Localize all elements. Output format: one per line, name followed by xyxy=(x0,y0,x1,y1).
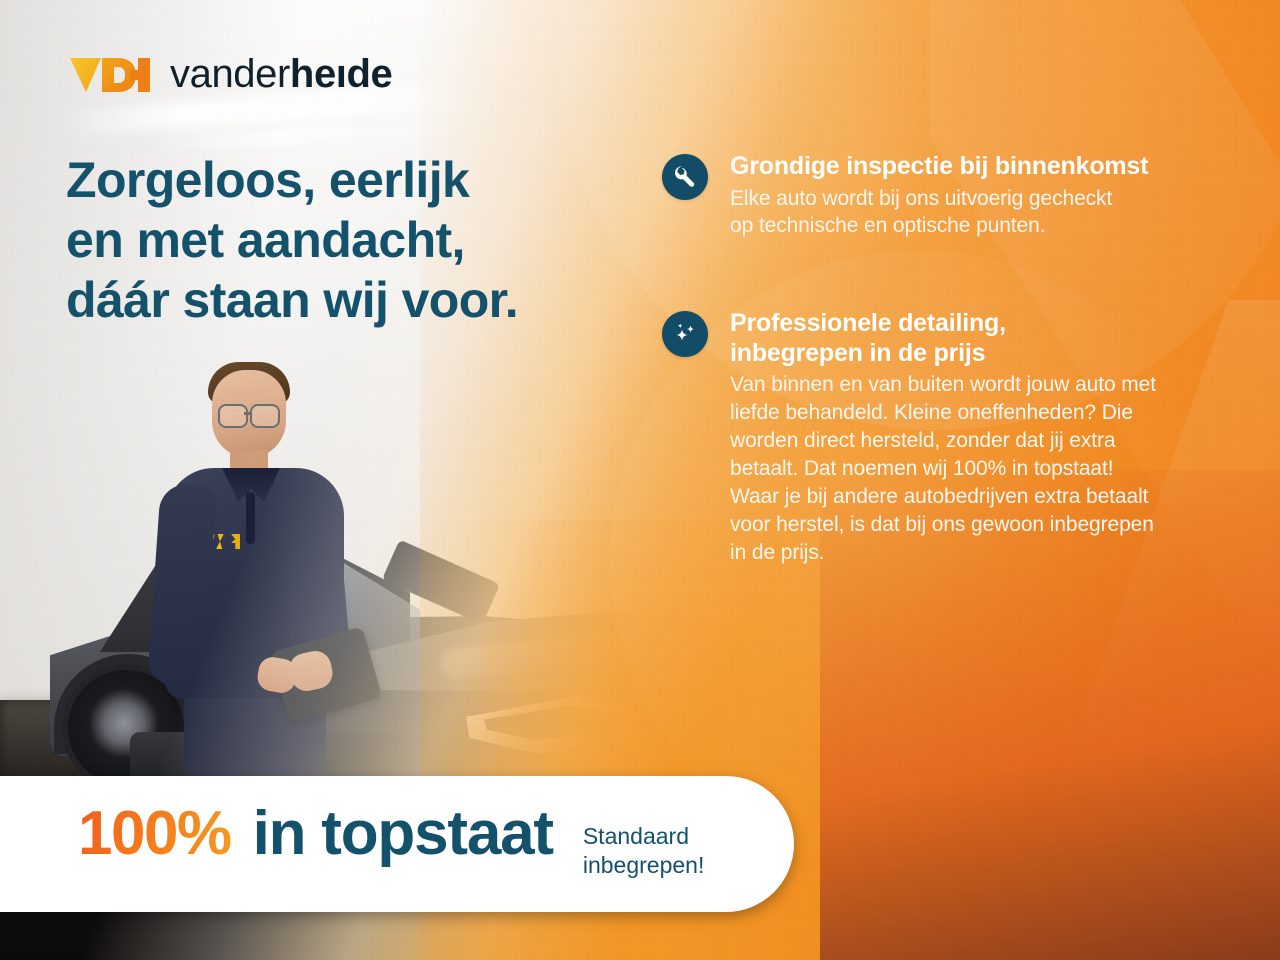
topstaat-banner: 100% in topstaat Standaard inbegrepen! xyxy=(0,776,794,912)
feature-list: Grondige inspectie bij binnenkomst Elke … xyxy=(662,152,1222,567)
feature-body: Elke auto wordt bij ons uitvoerig gechec… xyxy=(730,185,1222,241)
feature-detailing: Professionele detailing, inbegrepen in d… xyxy=(662,309,1222,566)
feature-title: Grondige inspectie bij binnenkomst xyxy=(730,152,1222,182)
percent-value: 100% xyxy=(78,798,231,869)
brand-word-thin: vander xyxy=(170,52,290,96)
feature-body-line: liefde behandeld. Kleine oneffenheden? D… xyxy=(730,399,1222,427)
banner-sub-line-2: inbegrepen! xyxy=(583,851,705,880)
headline-line-3: dáár staan wij voor. xyxy=(66,270,666,330)
page-title: Zorgeloos, eerlijk en met aandacht, dáár… xyxy=(66,150,666,330)
feature-body-line: betaalt. Dat noemen wij 100% in topstaat… xyxy=(730,455,1222,483)
feature-body-line: Elke auto wordt bij ons uitvoerig gechec… xyxy=(730,185,1222,213)
brand-logo[interactable]: vanderheıde xyxy=(68,52,392,97)
topstaat-banner-content: 100% in topstaat Standaard inbegrepen! xyxy=(0,798,704,891)
feature-body-line: op technische en optische punten. xyxy=(730,212,1222,240)
vdh-promo-banner: vanderheıde Zorgeloos, eerlijk en met aa… xyxy=(0,0,1280,960)
banner-main-text: in topstaat xyxy=(253,798,553,869)
headline-line-2: en met aandacht, xyxy=(66,210,666,270)
feature-inspection: Grondige inspectie bij binnenkomst Elke … xyxy=(662,152,1222,240)
wrench-icon xyxy=(662,154,708,200)
banner-sub-text: Standaard inbegrepen! xyxy=(583,822,705,881)
feature-title-line-2: inbegrepen in de prijs xyxy=(730,339,1222,369)
feature-title-line-1: Professionele detailing, xyxy=(730,309,1222,339)
sparkle-icon xyxy=(662,311,708,357)
banner-sub-line-1: Standaard xyxy=(583,822,705,851)
headline-line-1: Zorgeloos, eerlijk xyxy=(66,150,666,210)
feature-body-line: Van binnen en van buiten wordt jouw auto… xyxy=(730,371,1222,399)
feature-body-line: voor herstel, is dat bij ons gewoon inbe… xyxy=(730,511,1222,539)
feature-body-line: Waar je bij andere autobedrijven extra b… xyxy=(730,483,1222,511)
brand-word-bold: heıde xyxy=(290,52,392,96)
vdh-logo-icon xyxy=(68,54,152,96)
brand-wordmark: vanderheıde xyxy=(170,52,392,97)
feature-body-line: worden direct hersteld, zonder dat jij e… xyxy=(730,427,1222,455)
feature-body-line: in de prijs. xyxy=(730,539,1222,567)
feature-body: Van binnen en van buiten wordt jouw auto… xyxy=(730,371,1222,566)
feature-title: Professionele detailing, inbegrepen in d… xyxy=(730,309,1222,368)
